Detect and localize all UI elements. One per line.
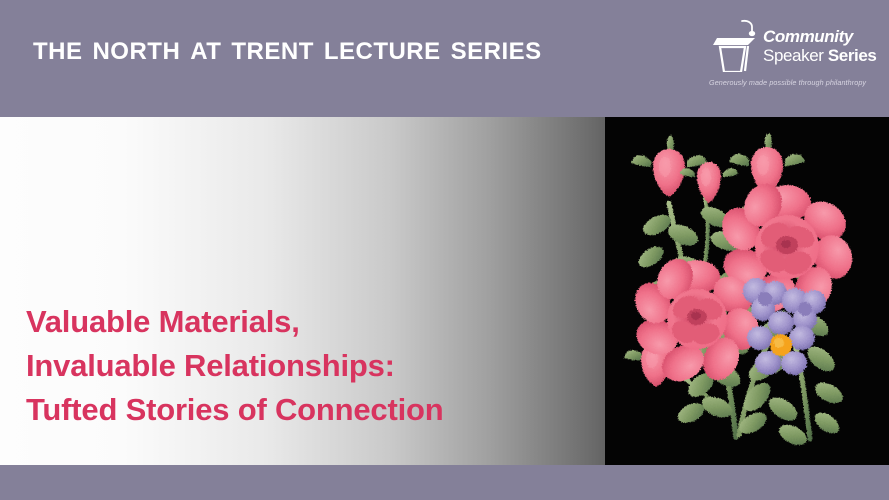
title-line-1: Valuable Materials, [26, 300, 566, 344]
floral-embroidery-illustration [605, 117, 889, 465]
podium-microphone-icon [711, 18, 763, 72]
title-line-3: Tufted Stories of Connection [26, 388, 566, 432]
logo-series-text: Series [828, 46, 877, 65]
logo-speaker-text: Speaker [763, 46, 828, 65]
logo-community-text: Community [763, 28, 863, 45]
header-banner: The North At Trent Lecture Series Commun… [0, 0, 889, 117]
footer-band [0, 465, 889, 500]
lecture-title: Valuable Materials, Invaluable Relations… [26, 300, 566, 432]
logo-wordmark: Community Speaker Series [763, 28, 863, 64]
series-title: The North At Trent Lecture Series [33, 31, 542, 65]
title-line-2: Invaluable Relationships: [26, 344, 566, 388]
community-speaker-series-logo: Community Speaker Series Generously made… [707, 16, 865, 96]
slide-body: Valuable Materials, Invaluable Relations… [0, 117, 889, 465]
logo-tagline: Generously made possible through philant… [709, 78, 865, 87]
tufted-floral-artwork [605, 117, 889, 465]
logo-speaker-series-text: Speaker Series [763, 47, 863, 64]
lecture-poster-slide: The North At Trent Lecture Series Commun… [0, 0, 889, 500]
